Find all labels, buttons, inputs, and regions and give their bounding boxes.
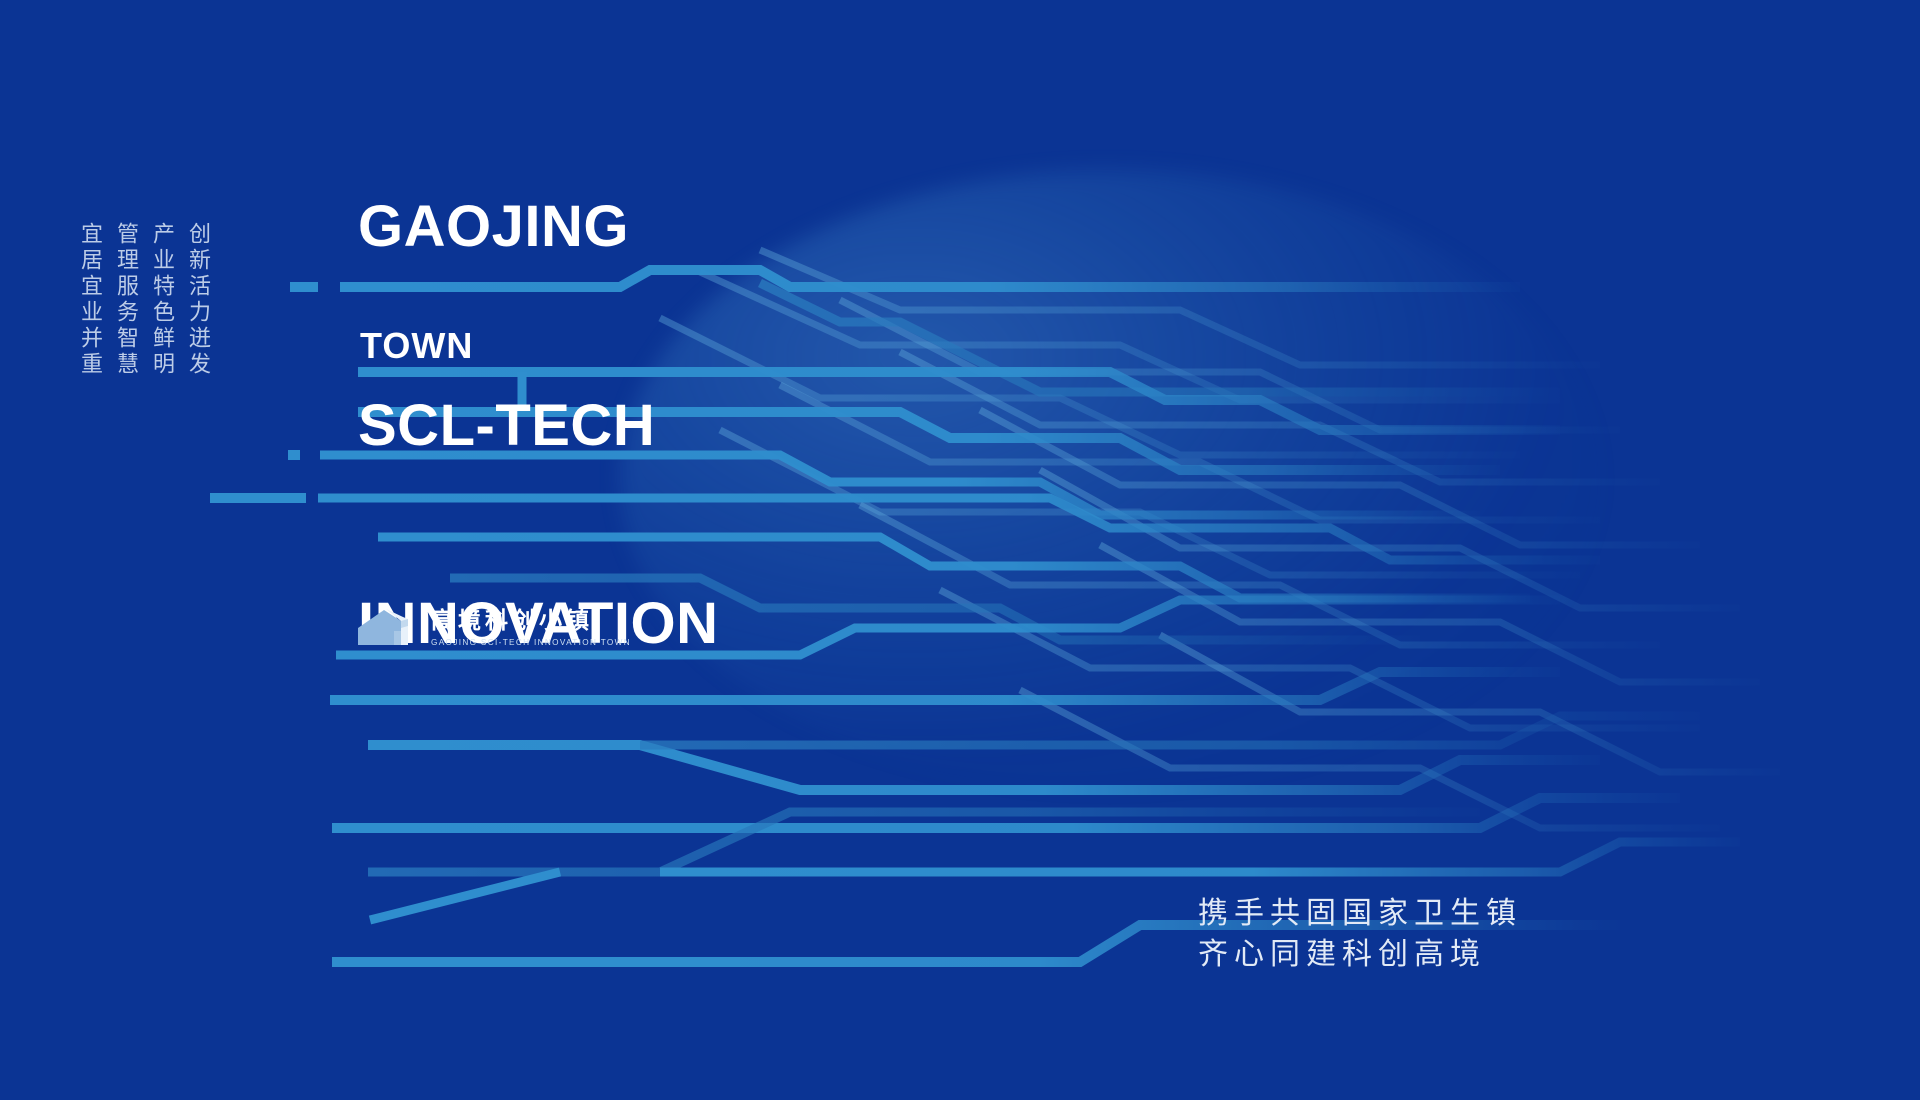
slogan-line-2: 齐心同建科创高境: [1198, 934, 1522, 975]
vertical-tagline-4: 宜居宜业并重: [78, 222, 100, 378]
slogan-block: 携手共固国家卫生镇 齐心同建科创高境: [1198, 893, 1522, 976]
headline-line-1: GAOJING: [358, 194, 719, 260]
slogan-line-1: 携手共固国家卫生镇: [1198, 893, 1522, 934]
poster-canvas: 创新活力迸发 产业特色鲜明 管理服务智慧 宜居宜业并重 GAOJING SCL-…: [0, 0, 1920, 1100]
background-glow: [620, 170, 1600, 790]
house-emblem-icon: [356, 605, 418, 651]
headline-line-4: TOWN: [360, 325, 473, 367]
logo-lockup: 高境科创小镇 GAOJING SCI-TECH INNOVATION TOWN: [356, 605, 631, 651]
headline-line-2: SCL-TECH: [358, 393, 719, 459]
vertical-tagline-3: 管理服务智慧: [114, 222, 136, 378]
vertical-tagline-group: 创新活力迸发 产业特色鲜明 管理服务智慧 宜居宜业并重: [78, 222, 208, 378]
page-title: GAOJING SCL-TECH INNOVATION: [358, 62, 719, 789]
vertical-tagline-1: 创新活力迸发: [186, 222, 208, 378]
logo-text-block: 高境科创小镇 GAOJING SCI-TECH INNOVATION TOWN: [431, 609, 631, 647]
circuit-trace-artwork: [0, 0, 1920, 1100]
vertical-tagline-2: 产业特色鲜明: [150, 222, 172, 378]
logo-chinese-name: 高境科创小镇: [431, 609, 631, 634]
logo-english-name: GAOJING SCI-TECH INNOVATION TOWN: [431, 638, 631, 647]
